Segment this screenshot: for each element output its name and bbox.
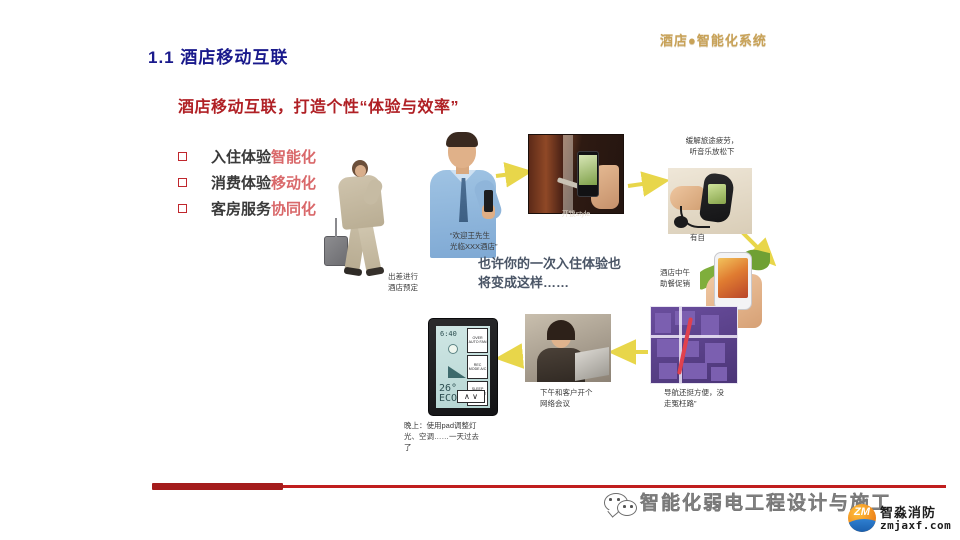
pad-screen: 6:40 26° ECO OVER AUTO FAN REC MODE A/C …: [436, 326, 490, 408]
pad-button-fan[interactable]: OVER AUTO FAN: [467, 328, 488, 353]
caption-night-pad: 晚上：使用pad调整灯 光、空调……一天过去 了: [404, 421, 514, 454]
lightbulb-icon: [448, 344, 458, 354]
experience-note: 也许你的一次入住体验也 将变成这样……: [478, 255, 621, 293]
photo-headphones-music: [668, 168, 752, 234]
logo-website: zmjaxf.com: [880, 519, 951, 532]
caption-own-music: 有自: [690, 233, 730, 244]
photo-business-traveller: [322, 152, 400, 284]
presentation-slide: 酒店●智能化系统 1.1 酒店移动互联 酒店移动互联，打造个性“体验与效率” 入…: [0, 0, 960, 540]
caption-business-trip: 出差进行 酒店预定: [370, 272, 436, 294]
caption-navigation: 导航还挺方便，没 走冤枉路”: [664, 388, 756, 410]
caption-welcome-sms: “欢迎王先生 光临XXX酒店”: [450, 231, 536, 253]
photo-navigation-map: [650, 306, 738, 384]
footer-divider-thick: [152, 483, 283, 490]
caption-relax-music: 缓解旅途疲劳， 听音乐放松下: [666, 136, 758, 158]
photo-pad-control-panel: 6:40 26° ECO OVER AUTO FAN REC MODE A/C …: [428, 318, 498, 416]
wechat-icon: [604, 490, 638, 517]
logo-badge-icon: ZM: [848, 504, 876, 532]
photo-video-conference: [525, 314, 611, 382]
caption-lock-style: 开锁style: [528, 209, 624, 219]
pad-time: 6:40: [440, 330, 457, 338]
photo-phone-door-lock: [528, 134, 624, 214]
caption-meeting: 下午和客户开个 网络会议: [540, 388, 628, 410]
fan-level-icon: [448, 366, 466, 378]
pad-updown-arrows[interactable]: ∧ ∨: [457, 390, 485, 403]
company-logo: ZM 智淼消防 zmjaxf.com: [848, 502, 952, 536]
logo-mark-text: ZM: [854, 506, 870, 518]
pad-button-mode[interactable]: REC MODE A/C: [467, 355, 488, 380]
